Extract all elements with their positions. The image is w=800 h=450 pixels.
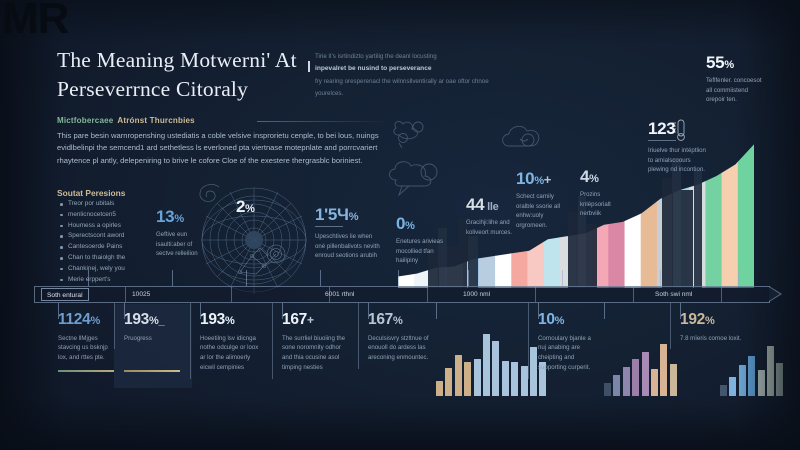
bullet-block-title: Soutat Peresions — [57, 188, 125, 198]
subheading-secondary: Atrónst Thurcnbies — [117, 116, 194, 125]
card-6[interactable]: 10% Cornoulary bjanle a nuj anabing are … — [538, 312, 600, 373]
stat-value: 44 lle — [466, 196, 518, 213]
bar — [530, 347, 537, 396]
timeline-label: 10025 — [132, 291, 150, 298]
bar — [623, 367, 630, 397]
building-silhouette — [586, 224, 597, 288]
stat-description: Schect carnily oralble ssorie all enhw:u… — [516, 192, 572, 231]
stat-underline — [648, 140, 676, 141]
deck-rest: fry rearing oresperenacl the wilnnsllven… — [315, 76, 490, 100]
axis-tick — [398, 270, 399, 286]
stat-13: 13% Geftive eun isaulti:aber of sectve r… — [156, 208, 208, 259]
card-description: Deculsisvry stzltnue of enouoll do ardes… — [368, 334, 430, 364]
cloud-icon — [498, 122, 542, 152]
bar — [464, 362, 471, 396]
stat-0: 0% Enetures arivieas mocollied tfan hail… — [396, 215, 456, 266]
bar — [613, 375, 620, 396]
card-value: 167% — [368, 312, 430, 328]
timeline-label: 6001 rthnl — [325, 291, 354, 298]
bar — [767, 346, 774, 396]
card-divider — [670, 303, 671, 349]
stat-value: 4% — [580, 168, 632, 185]
card-description: The surrliel biuoiing the sone noromnity… — [282, 334, 348, 373]
card-divider — [114, 303, 115, 349]
brand-logo: MR — [2, 0, 68, 44]
cloud-chat-icon — [386, 158, 438, 198]
stat-55: 55% Teflfenler. concoesot all commiisten… — [706, 54, 768, 105]
card-description: Hoeetilng lsv idicnga nothe odculge or l… — [200, 334, 264, 373]
building-silhouette — [694, 170, 702, 288]
card-5[interactable]: 167% Deculsisvry stzltnue of enouoll do … — [368, 312, 430, 363]
list-item: Chankinej, wely you — [58, 266, 178, 272]
stat-value: 123 — [648, 120, 708, 137]
axis-tick — [320, 270, 321, 286]
stat-description: Geftive eun isaulti:aber of sectve relle… — [156, 230, 208, 259]
card-description: Sectne llMjges stavcing us bsknjp lox, a… — [58, 334, 116, 364]
bar — [521, 366, 528, 396]
bar — [502, 361, 509, 396]
axis-tick — [562, 270, 563, 286]
card-divider — [272, 303, 273, 379]
stat-4: 4% Prozins knlépsorialt nerbviik — [580, 168, 632, 219]
deck-line-top: Tirie lI's isrtindizto yartilig the dean… — [315, 51, 490, 63]
bar — [445, 368, 452, 396]
section-subheading: MictfobercaeeAtrónst Thurcnbies — [57, 116, 387, 125]
card-value: 1124% — [58, 312, 116, 328]
bar — [739, 365, 746, 396]
subheading-primary: Mictfobercaee — [57, 116, 113, 125]
body-paragraph: This pare besin warnropenshing ustediati… — [57, 130, 379, 167]
bar — [651, 369, 658, 396]
card-divider — [528, 303, 529, 379]
card-divider — [358, 303, 359, 369]
card-accent-bar — [58, 370, 114, 372]
timeline-label: 1000 nml — [463, 291, 490, 298]
bar — [492, 341, 499, 396]
building-silhouette — [681, 190, 693, 288]
bar — [455, 355, 462, 396]
card-connector — [604, 303, 605, 319]
bargroup-1 — [436, 334, 546, 396]
card-value: 193% — [200, 312, 264, 328]
card-2[interactable]: 193%_ Pruogress — [124, 312, 184, 343]
card-accent-bar — [124, 370, 180, 372]
card-description: 7.8 mïeris cornoe loxit. — [680, 334, 750, 344]
card-7[interactable]: 192% 7.8 mïeris cornoe loxit. — [680, 312, 750, 343]
network-nodes-icon — [390, 118, 428, 150]
stat-description: Gracihji:lihe and koliveort murces. — [466, 218, 518, 237]
bar — [660, 344, 667, 396]
bar — [748, 356, 755, 396]
bar — [642, 352, 649, 396]
stat-description: Iriuelve thur intéptlion to amialscoours… — [648, 146, 708, 175]
infographic-canvas: MR The Meaning Motwerni' At Perseverrnce… — [0, 0, 800, 450]
stat-description: Prozins knlépsorialt nerbviik — [580, 190, 632, 219]
stat-value: 13% — [156, 208, 208, 225]
stat-value: 55% — [706, 54, 768, 71]
stat-underline — [315, 226, 343, 227]
stat-value: 1'5Ч% — [315, 206, 383, 223]
card-description: Pruogress — [124, 334, 184, 344]
bar — [474, 359, 481, 396]
list-item: Merie erppert's — [58, 277, 178, 283]
bar — [511, 362, 518, 396]
bargroup-2 — [604, 344, 677, 396]
card-value: 193%_ — [124, 312, 184, 328]
header-deck: Tirie lI's isrtindizto yartilig the dean… — [315, 51, 490, 100]
bar — [483, 334, 490, 396]
card-3[interactable]: 193% Hoeetilng lsv idicnga nothe odculge… — [200, 312, 264, 373]
bar — [720, 385, 727, 396]
bar — [758, 370, 765, 396]
axis-tick — [468, 270, 469, 286]
building-silhouette — [672, 158, 681, 288]
bar — [729, 377, 736, 396]
axis-tick — [88, 270, 89, 286]
timeline-boxed-label: Soth entural — [41, 288, 89, 301]
stat-description: Upeschtives lie when oné pillenbalivots … — [315, 232, 383, 261]
card-description: Cornoulary bjanle a nuj anabing are chei… — [538, 334, 600, 373]
axis-tick — [246, 270, 247, 286]
card-1[interactable]: 1124% Sectne llMjges stavcing us bsknjp … — [58, 312, 116, 363]
bar — [632, 359, 639, 396]
bar — [776, 363, 783, 396]
stat-154: 1'5Ч% Upeschtives lie when oné pillenbal… — [315, 206, 383, 261]
deck-lead: inpevalret be nusind to perseverance — [315, 63, 490, 76]
stat-2: 2% — [236, 198, 255, 215]
bar — [670, 364, 677, 396]
axis-tick — [172, 270, 173, 286]
card-connector — [436, 303, 437, 319]
stat-value: 10%+ — [516, 170, 572, 187]
timeline-axis[interactable]: Soth entural 10025 6001 rthnl 1000 nml S… — [34, 286, 770, 303]
subheading-rule — [257, 121, 387, 122]
bar — [436, 381, 443, 397]
stat-44: 44 lle Gracihji:lihe and koliveort murce… — [466, 196, 518, 237]
card-value: 10% — [538, 312, 600, 328]
stat-value: 0% — [396, 215, 456, 232]
card-4[interactable]: 167+ The surrliel biuoiing the sone noro… — [282, 312, 348, 373]
stat-description: Enetures arivieas mocollied tfan hailipi… — [396, 237, 456, 266]
card-value: 167+ — [282, 312, 348, 328]
timeline-arrow-icon — [769, 286, 782, 302]
stat-description: Teflfenler. concoesot all commiistend or… — [706, 76, 768, 105]
stat-123: 123 Iriuelve thur intéptlion to amialsco… — [648, 120, 708, 175]
axis-tick — [738, 270, 739, 286]
deck-tick-marker — [308, 61, 310, 72]
bar — [604, 383, 611, 396]
building-silhouette — [468, 236, 478, 288]
axis-tick — [660, 270, 661, 286]
bargroup-3 — [720, 346, 783, 396]
card-divider — [190, 303, 191, 379]
spiral-icon — [196, 182, 226, 208]
timeline-label: Soth swi nml — [655, 291, 692, 298]
card-value: 192% — [680, 312, 750, 328]
stat-10: 10%+ Schect carnily oralble ssorie all e… — [516, 170, 572, 231]
stat-value: 2% — [236, 198, 255, 215]
